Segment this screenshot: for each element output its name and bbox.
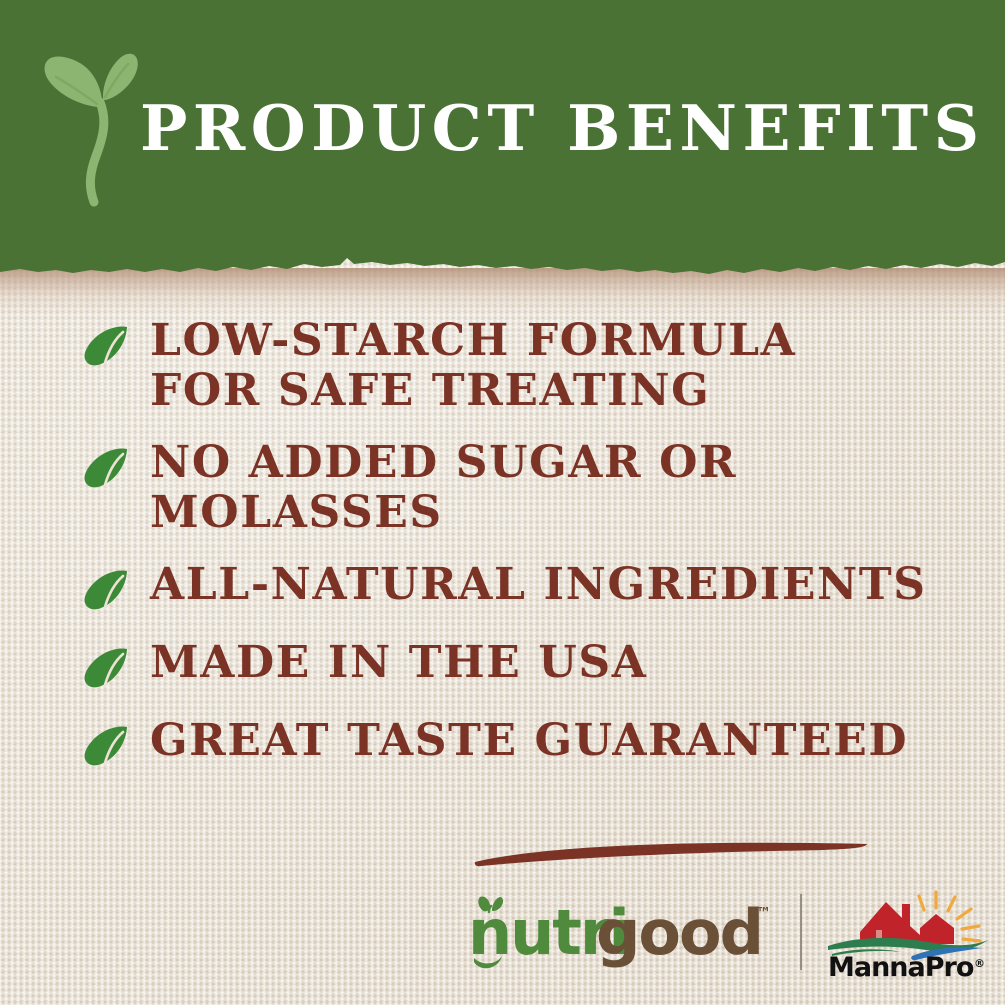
leaf-bullet-icon (82, 320, 134, 372)
barn-icon (860, 902, 954, 944)
benefit-label: MADE IN THE USA (150, 638, 647, 688)
benefit-item: ALL-NATURAL INGREDIENTS (82, 560, 962, 616)
product-benefits-poster: PRODUCT BENEFITS LOW-STARCH FORMULA FOR … (0, 0, 1005, 1005)
sprout-icon (30, 44, 150, 224)
leaf-bullet-icon (82, 720, 134, 772)
benefit-label: NO ADDED SUGAR OR MOLASSES (150, 438, 737, 538)
guaranteed-underline-swash (473, 838, 869, 868)
benefit-item: GREAT TASTE GUARANTEED (82, 716, 962, 772)
benefit-item: NO ADDED SUGAR OR MOLASSES (82, 438, 962, 538)
benefit-item: MADE IN THE USA (82, 638, 962, 694)
nutrigood-logo: nutri good ™ (468, 892, 778, 970)
logo-divider (800, 894, 802, 970)
svg-text:MannaPro: MannaPro (828, 952, 974, 980)
benefit-label: ALL-NATURAL INGREDIENTS (150, 560, 927, 610)
logo-bar: nutri good ™ (0, 886, 1005, 986)
leaf-bullet-icon (82, 642, 134, 694)
benefit-label: GREAT TASTE GUARANTEED (150, 716, 908, 766)
leaf-bullet-icon (82, 564, 134, 616)
header-banner: PRODUCT BENEFITS (0, 0, 1005, 276)
mannapro-logo: MannaPro ® (824, 888, 992, 980)
page-title: PRODUCT BENEFITS (140, 92, 985, 164)
benefits-list: LOW-STARCH FORMULA FOR SAFE TREATING NO … (82, 316, 962, 794)
benefit-label: LOW-STARCH FORMULA FOR SAFE TREATING (150, 316, 796, 416)
svg-text:™: ™ (756, 904, 771, 922)
benefit-item: LOW-STARCH FORMULA FOR SAFE TREATING (82, 316, 962, 416)
svg-text:®: ® (974, 957, 985, 970)
leaf-bullet-icon (82, 442, 134, 494)
svg-text:good: good (596, 896, 762, 969)
